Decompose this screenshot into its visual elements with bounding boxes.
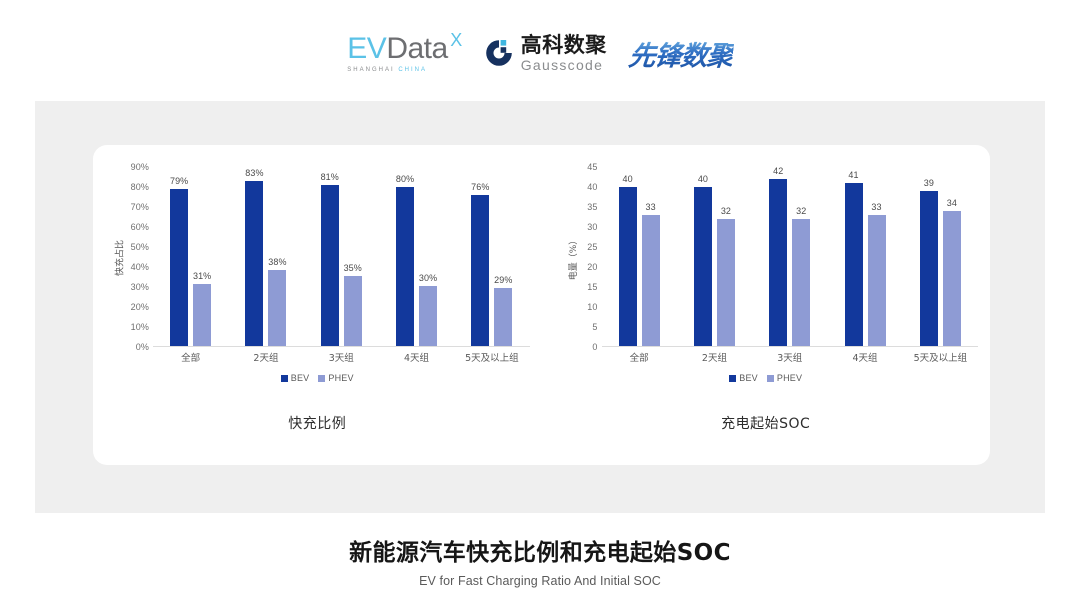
- bar-rect: [943, 211, 961, 346]
- bar-value-label: 32: [796, 206, 806, 216]
- gausscode-logo: 高科数聚 Gausscode: [484, 35, 607, 72]
- bar-value-label: 31%: [193, 271, 211, 281]
- charts-row: 快充占比 90% 80% 70% 60% 50% 40% 30% 20% 10%…: [93, 145, 990, 465]
- y-tick: 40%: [131, 262, 149, 272]
- bar-group: 4133: [827, 167, 902, 346]
- legend-left: BEV PHEV: [93, 373, 542, 383]
- x-tick-labels-right: 全部2天组3天组4天组5天及以上组: [602, 350, 979, 364]
- page-root: EVData X SHANGHAI CHINA 高科数聚 Gausscode: [0, 0, 1080, 608]
- y-tick-labels-right: 45 40 35 30 25 20 15 10 5 0: [562, 167, 598, 347]
- bar-value-label: 81%: [321, 172, 339, 182]
- legend-label-bev: BEV: [291, 373, 310, 383]
- bar-group: 80%30%: [379, 167, 454, 346]
- bar-group: 4232: [752, 167, 827, 346]
- evdata-wordmark: EVData X: [347, 34, 447, 64]
- bar-rect: [268, 270, 286, 346]
- bar-value-label: 39: [924, 178, 934, 188]
- bar-rect: [494, 288, 512, 346]
- bar-bev[interactable]: 81%: [321, 167, 339, 346]
- bar-value-label: 32: [721, 206, 731, 216]
- bar-group: 3934: [903, 167, 978, 346]
- legend-swatch-phev-icon: [318, 375, 325, 382]
- page-title-cn: 新能源汽车快充比例和充电起始SOC: [0, 533, 1080, 567]
- bar-phev[interactable]: 29%: [494, 167, 512, 346]
- evdata-tagline-shanghai: SHANGHAI: [347, 67, 394, 73]
- legend-item-phev[interactable]: PHEV: [767, 373, 802, 383]
- bar-rect: [717, 219, 735, 346]
- evdata-ev-text: EV: [347, 32, 386, 65]
- bar-value-label: 30%: [419, 273, 437, 283]
- bars-plot-left: 79%31%83%38%81%35%80%30%76%29%: [153, 167, 530, 347]
- y-tick: 10: [587, 302, 597, 312]
- bar-bev[interactable]: 76%: [471, 167, 489, 346]
- bar-value-label: 42: [773, 166, 783, 176]
- bar-rect: [868, 215, 886, 346]
- bar-bev[interactable]: 79%: [170, 167, 188, 346]
- bar-rect: [642, 215, 660, 346]
- legend-item-bev[interactable]: BEV: [281, 373, 310, 383]
- x-tick-label: 4天组: [827, 350, 902, 364]
- gausscode-text: 高科数聚 Gausscode: [521, 35, 607, 72]
- page-title-en: EV for Fast Charging Ratio And Initial S…: [0, 574, 1080, 588]
- bar-phev[interactable]: 38%: [268, 167, 286, 346]
- bar-bev[interactable]: 39: [920, 167, 938, 346]
- bar-phev[interactable]: 30%: [419, 167, 437, 346]
- bar-rect: [245, 181, 263, 346]
- y-tick: 70%: [131, 202, 149, 212]
- bar-phev[interactable]: 35%: [344, 167, 362, 346]
- bar-value-label: 33: [871, 202, 881, 212]
- y-tick: 15: [587, 282, 597, 292]
- bars-plot-right: 40334032423241333934: [602, 167, 979, 347]
- bar-groups-left: 79%31%83%38%81%35%80%30%76%29%: [153, 167, 530, 346]
- bar-bev[interactable]: 80%: [396, 167, 414, 346]
- chart-fast-charging-ratio: 快充占比 90% 80% 70% 60% 50% 40% 30% 20% 10%…: [93, 145, 542, 465]
- bar-phev[interactable]: 33: [868, 167, 886, 346]
- x-tick-label: 2天组: [677, 350, 752, 364]
- bar-rect: [170, 189, 188, 346]
- bar-bev[interactable]: 41: [845, 167, 863, 346]
- bar-value-label: 83%: [245, 168, 263, 178]
- evdata-logo: EVData X SHANGHAI CHINA: [347, 34, 461, 73]
- bar-rect: [419, 286, 437, 346]
- legend-swatch-bev-icon: [281, 375, 288, 382]
- bar-rect: [920, 191, 938, 346]
- bar-rect: [619, 187, 637, 346]
- footer-titles: 新能源汽车快充比例和充电起始SOC EV for Fast Charging R…: [0, 533, 1080, 588]
- xianfeng-logo: 先锋数聚: [627, 34, 735, 73]
- bar-rect: [396, 187, 414, 346]
- bar-rect: [344, 276, 362, 346]
- bar-rect: [792, 219, 810, 346]
- y-tick: 30%: [131, 282, 149, 292]
- y-tick: 35: [587, 202, 597, 212]
- bar-bev[interactable]: 40: [619, 167, 637, 346]
- bar-rect: [471, 195, 489, 346]
- chart-caption-right: 充电起始SOC: [542, 413, 991, 433]
- y-tick: 60%: [131, 222, 149, 232]
- legend-right: BEV PHEV: [542, 373, 991, 383]
- x-tick-label: 4天组: [379, 350, 454, 364]
- x-tick-label: 5天及以上组: [903, 350, 978, 364]
- y-tick: 30: [587, 222, 597, 232]
- bar-value-label: 76%: [471, 182, 489, 192]
- bar-value-label: 80%: [396, 174, 414, 184]
- legend-label-phev: PHEV: [328, 373, 353, 383]
- bar-value-label: 40: [698, 174, 708, 184]
- gausscode-mark-icon: [484, 38, 514, 68]
- y-tick: 25: [587, 242, 597, 252]
- bar-bev[interactable]: 83%: [245, 167, 263, 346]
- y-tick: 40: [587, 182, 597, 192]
- bar-rect: [694, 187, 712, 346]
- legend-swatch-bev-icon: [729, 375, 736, 382]
- evdata-data-text: Data: [386, 32, 447, 65]
- gausscode-en-name: Gausscode: [521, 58, 607, 72]
- evdata-x-icon: X: [450, 31, 462, 49]
- legend-item-phev[interactable]: PHEV: [318, 373, 353, 383]
- bar-value-label: 34: [947, 198, 957, 208]
- x-tick-label: 全部: [602, 350, 677, 364]
- x-tick-label: 全部: [153, 350, 228, 364]
- bar-value-label: 29%: [494, 275, 512, 285]
- evdata-tagline-china: CHINA: [398, 67, 427, 73]
- evdata-tagline: SHANGHAI CHINA: [347, 67, 427, 73]
- y-tick: 20%: [131, 302, 149, 312]
- x-tick-label: 3天组: [752, 350, 827, 364]
- chart-caption-left: 快充比例: [93, 413, 542, 433]
- legend-label-phev: PHEV: [777, 373, 802, 383]
- bar-bev[interactable]: 40: [694, 167, 712, 346]
- bar-phev[interactable]: 31%: [193, 167, 211, 346]
- y-tick-labels-left: 90% 80% 70% 60% 50% 40% 30% 20% 10% 0%: [113, 167, 149, 347]
- bar-value-label: 38%: [268, 257, 286, 267]
- legend-item-bev[interactable]: BEV: [729, 373, 758, 383]
- y-tick: 0%: [136, 342, 149, 352]
- bar-phev[interactable]: 32: [792, 167, 810, 346]
- legend-swatch-phev-icon: [767, 375, 774, 382]
- bar-phev[interactable]: 32: [717, 167, 735, 346]
- bar-group: 4032: [677, 167, 752, 346]
- bar-rect: [321, 185, 339, 346]
- y-tick: 5: [592, 322, 597, 332]
- chart-plot-area-left: 快充占比 90% 80% 70% 60% 50% 40% 30% 20% 10%…: [93, 145, 542, 370]
- y-tick: 20: [587, 262, 597, 272]
- y-tick: 0: [592, 342, 597, 352]
- bar-value-label: 41: [848, 170, 858, 180]
- logo-bar: EVData X SHANGHAI CHINA 高科数聚 Gausscode: [0, 24, 1080, 82]
- bar-phev[interactable]: 33: [642, 167, 660, 346]
- bar-value-label: 35%: [344, 263, 362, 273]
- bar-value-label: 33: [646, 202, 656, 212]
- bar-rect: [769, 179, 787, 346]
- y-tick: 50%: [131, 242, 149, 252]
- bar-group: 76%29%: [454, 167, 529, 346]
- x-tick-label: 5天及以上组: [454, 350, 529, 364]
- y-tick: 45: [587, 162, 597, 172]
- x-tick-labels-left: 全部2天组3天组4天组5天及以上组: [153, 350, 530, 364]
- y-tick: 80%: [131, 182, 149, 192]
- bar-group: 79%31%: [153, 167, 228, 346]
- gausscode-cn-name: 高科数聚: [521, 35, 607, 56]
- bar-group: 81%35%: [304, 167, 379, 346]
- bar-value-label: 79%: [170, 176, 188, 186]
- chart-plot-area-right: 电量（%） 45 40 35 30 25 20 15 10 5 0 403340…: [542, 145, 991, 370]
- y-tick: 90%: [131, 162, 149, 172]
- bar-phev[interactable]: 34: [943, 167, 961, 346]
- chart-initial-soc: 电量（%） 45 40 35 30 25 20 15 10 5 0 403340…: [542, 145, 991, 465]
- bar-group: 4033: [602, 167, 677, 346]
- bar-value-label: 40: [623, 174, 633, 184]
- bar-rect: [845, 183, 863, 346]
- x-tick-label: 3天组: [304, 350, 379, 364]
- x-tick-label: 2天组: [228, 350, 303, 364]
- bar-bev[interactable]: 42: [769, 167, 787, 346]
- bar-group: 83%38%: [228, 167, 303, 346]
- bar-rect: [193, 284, 211, 346]
- legend-label-bev: BEV: [739, 373, 758, 383]
- y-tick: 10%: [131, 322, 149, 332]
- bar-groups-right: 40334032423241333934: [602, 167, 979, 346]
